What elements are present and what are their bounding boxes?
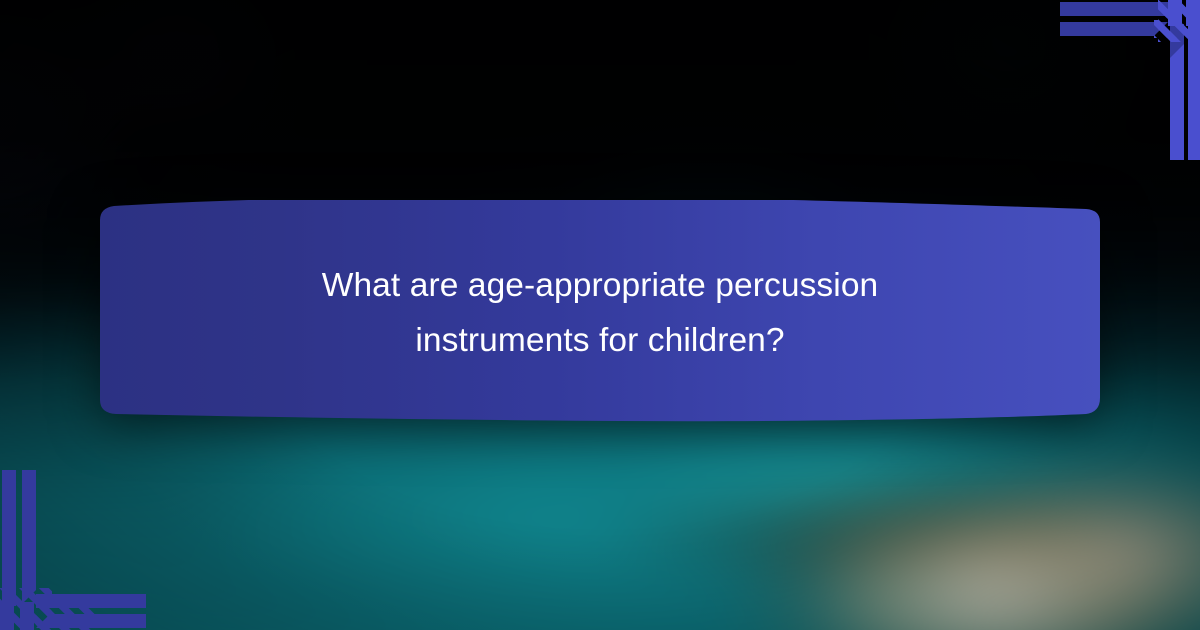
question-line-1: What are age-appropriate percussion bbox=[322, 258, 879, 313]
screenshot-canvas: What are age-appropriate percussion inst… bbox=[0, 0, 1200, 630]
corner-bracket-bottom-left bbox=[0, 470, 170, 630]
question-text: What are age-appropriate percussion inst… bbox=[100, 200, 1100, 426]
question-card: What are age-appropriate percussion inst… bbox=[100, 200, 1100, 426]
corner-bracket-top-right bbox=[1030, 0, 1200, 160]
question-line-2: instruments for children? bbox=[415, 313, 784, 368]
